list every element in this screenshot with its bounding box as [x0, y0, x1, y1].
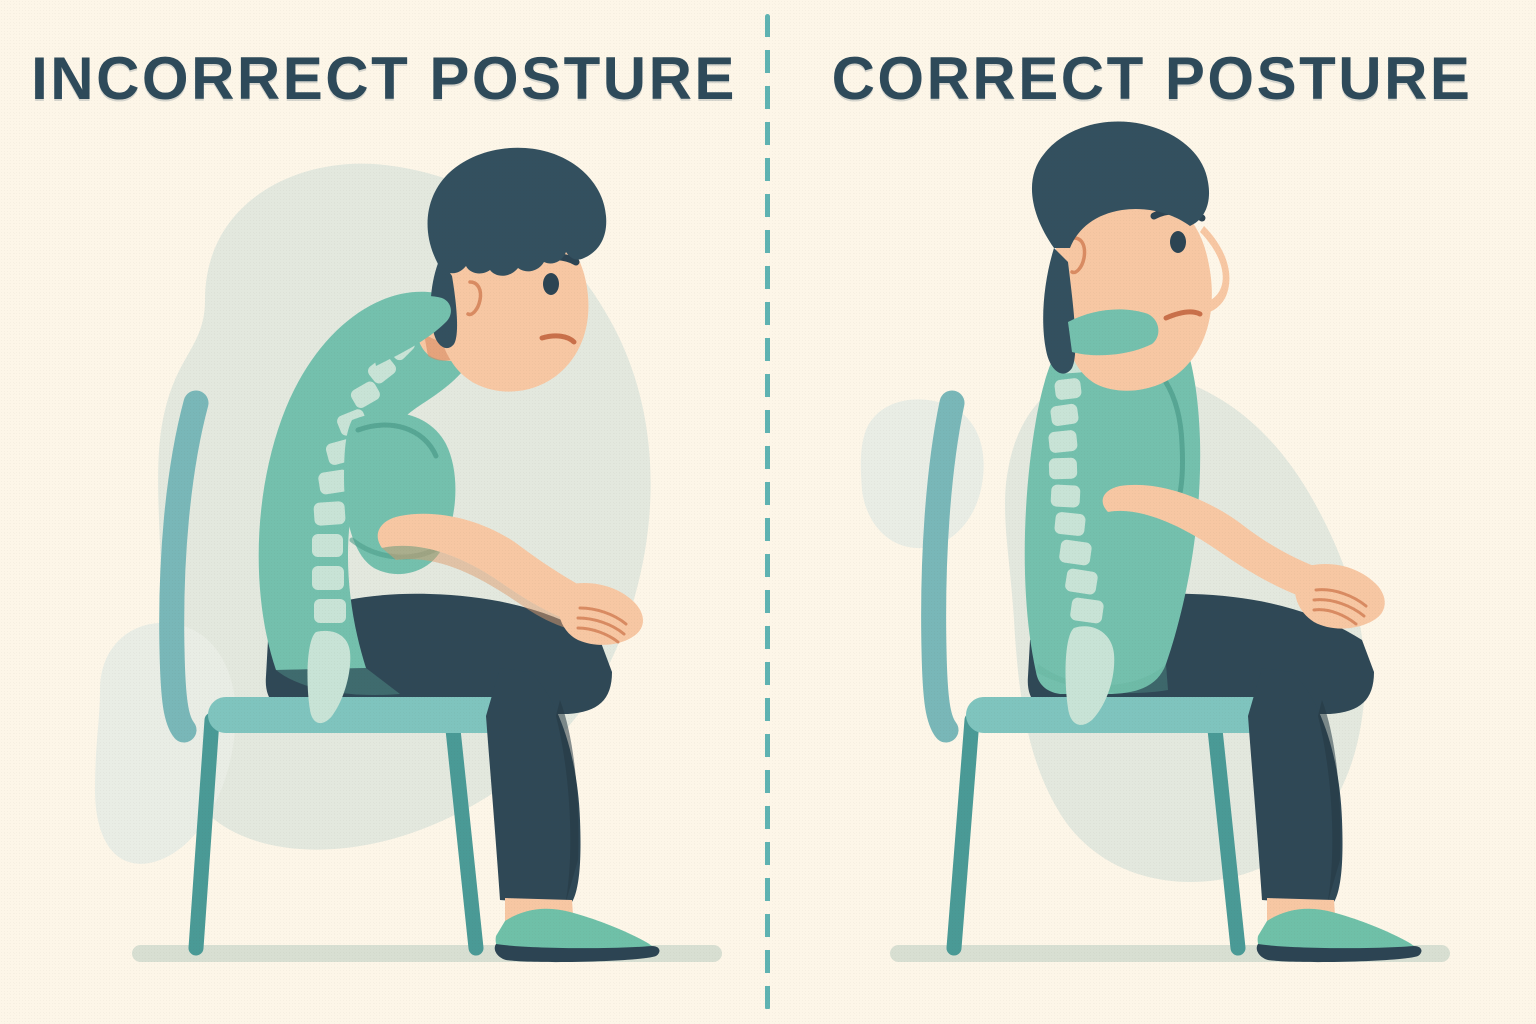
panel-correct-posture: CORRECT POSTURE	[768, 0, 1536, 1024]
incorrect-posture-illustration	[0, 0, 768, 1024]
chair-seat	[208, 697, 518, 733]
eye	[543, 273, 559, 295]
shoe	[495, 909, 660, 962]
chair-backrest	[934, 403, 952, 730]
panel-incorrect-posture: INCORRECT POSTURE	[0, 0, 768, 1024]
hair	[428, 148, 607, 276]
background-blob-small	[861, 399, 984, 548]
panel-divider	[765, 14, 770, 1010]
illustration-canvas: INCORRECT POSTURE	[0, 0, 1536, 1024]
correct-posture-illustration	[768, 0, 1536, 1024]
eye	[1170, 231, 1186, 253]
chair-rear-leg	[954, 720, 972, 948]
page-title-incorrect: INCORRECT POSTURE	[0, 44, 768, 113]
page-title-correct: CORRECT POSTURE	[768, 44, 1536, 113]
shoe	[1257, 909, 1422, 962]
chair-seat	[966, 697, 1278, 733]
